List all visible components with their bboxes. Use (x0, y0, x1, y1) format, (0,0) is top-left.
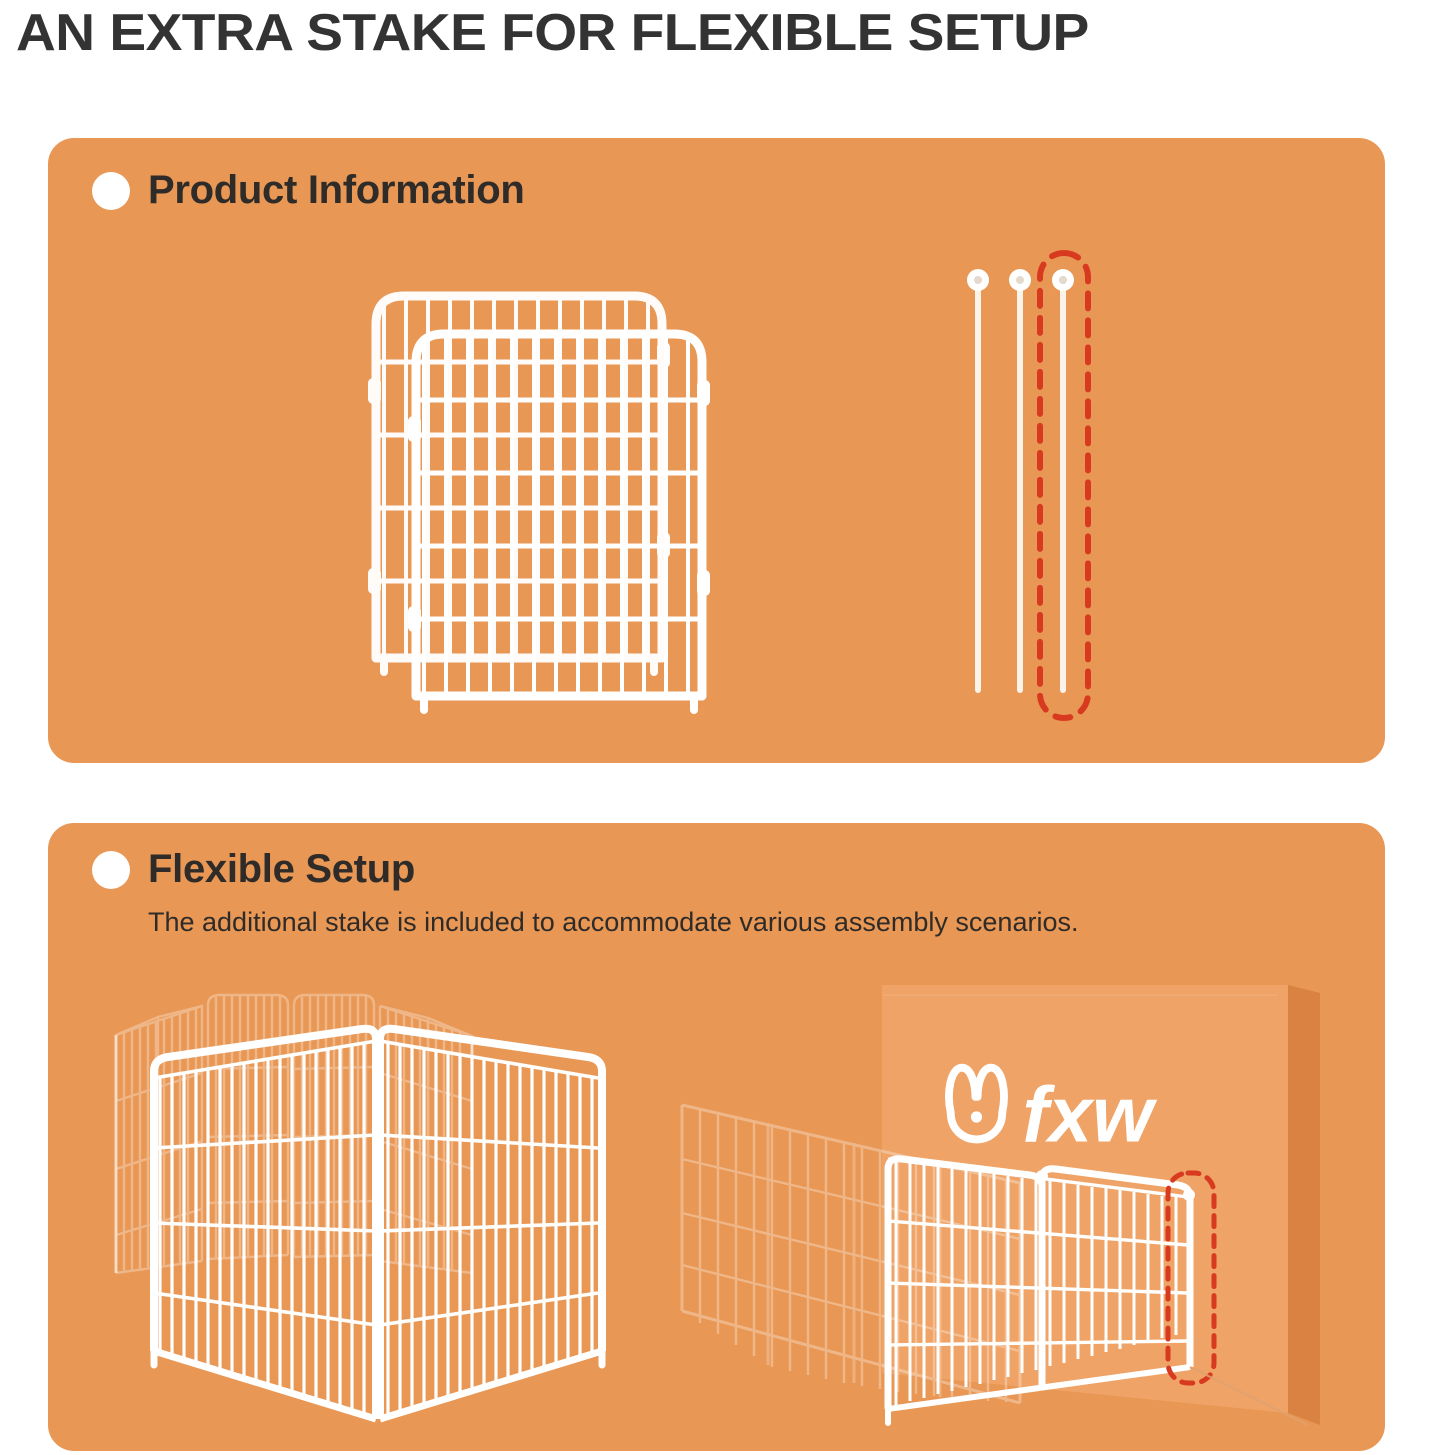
octagon-front-right-panel (380, 1029, 602, 1419)
brand-logo-text: fxw (1022, 1071, 1158, 1159)
stake-1 (967, 269, 989, 690)
stake-3-highlighted (1052, 269, 1074, 690)
card-product-information: Product Information (48, 138, 1385, 763)
page-title: AN EXTRA STAKE FOR FLEXIBLE SETUP (16, 2, 1432, 64)
wall-panel (882, 985, 1320, 1425)
stake-2 (1009, 269, 1031, 690)
illustration-octagon-playpen (98, 973, 668, 1433)
illustration-fence-panels (348, 238, 768, 738)
card-flexible-setup-title: Flexible Setup (148, 847, 415, 892)
illustration-wall-mounted-run: fxw (668, 973, 1368, 1433)
card-product-information-title: Product Information (148, 168, 525, 213)
card-flexible-setup-header: Flexible Setup (92, 847, 415, 892)
bullet-dot-icon (92, 172, 130, 210)
illustration-ground-stakes (948, 238, 1168, 738)
bullet-dot-icon (92, 851, 130, 889)
card-flexible-setup-subtitle: The additional stake is included to acco… (148, 907, 1078, 938)
card-product-information-header: Product Information (92, 168, 525, 213)
card-flexible-setup: Flexible Setup The additional stake is i… (48, 823, 1385, 1451)
